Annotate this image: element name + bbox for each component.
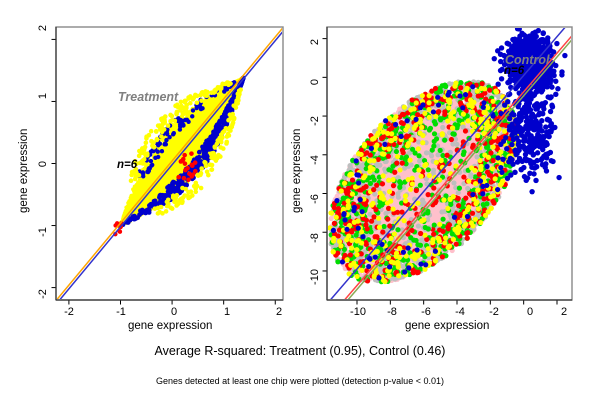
annotation-control-n: n=6 — [504, 65, 524, 77]
tick-x-control-0: 0 — [516, 306, 544, 318]
ylabel-control: gene expression — [291, 129, 303, 213]
tick-x-control-m8: -8 — [378, 306, 406, 318]
tick-y-control-m6: -6 — [309, 188, 321, 210]
figure-canvas: 2 1 0 -1 -2 -2 -1 0 1 2 gene expression … — [0, 0, 600, 400]
tick-x-control-m2: -2 — [480, 306, 508, 318]
tick-y-control-m4: -4 — [309, 149, 321, 171]
tick-x-control-m4: -4 — [446, 306, 474, 318]
tick-y-control-m10: -10 — [309, 262, 321, 292]
tick-x-control-2: 2 — [550, 306, 578, 318]
tick-x-control-m10: -10 — [344, 306, 372, 318]
tick-y-control-2: 2 — [309, 31, 321, 53]
caption-average-r-squared: Average R-squared: Treatment (0.95), Con… — [0, 344, 600, 358]
xlabel-control: gene expression — [405, 320, 489, 332]
tick-y-control-m8: -8 — [309, 227, 321, 249]
tick-y-control-0: 0 — [309, 71, 321, 93]
tick-x-control-m6: -6 — [412, 306, 440, 318]
tick-y-control-m2: -2 — [309, 110, 321, 132]
caption-detection-note: Genes detected at least one chip were pl… — [0, 376, 600, 386]
